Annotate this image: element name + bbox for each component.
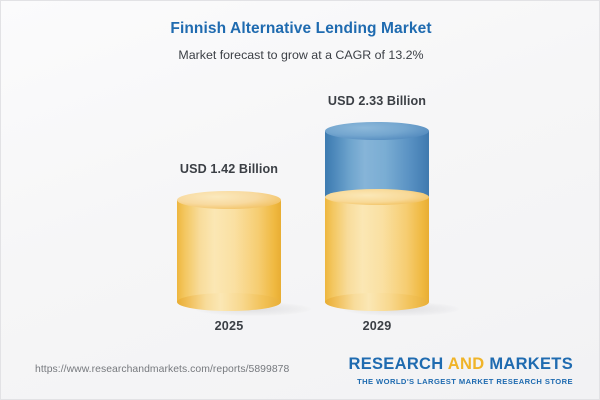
bar-top-cap-2029 — [325, 122, 429, 140]
research-and-markets-logo[interactable]: RESEARCH AND MARKETS THE WORLD'S LARGEST… — [348, 355, 573, 387]
chart-footer: https://www.researchandmarkets.com/repor… — [1, 347, 600, 399]
bar-body-2025 — [177, 200, 281, 302]
logo-word-and: AND — [448, 355, 485, 373]
logo-tagline: THE WORLD'S LARGEST MARKET RESEARCH STOR… — [348, 376, 573, 387]
category-label-2029: 2029 — [297, 319, 457, 333]
chart-plot-area: USD 1.42 Billion 2025 USD 2.33 Billion — [1, 1, 600, 349]
bar-segment-divider-2029 — [325, 189, 429, 205]
bar-bottom-cap-2029 — [325, 293, 429, 311]
chart-page: Finnish Alternative Lending Market Marke… — [0, 0, 600, 400]
report-url-link[interactable]: https://www.researchandmarkets.com/repor… — [35, 364, 289, 375]
bar-top-cap-2025 — [177, 191, 281, 209]
logo-wordmark: RESEARCH AND MARKETS — [348, 355, 573, 374]
bar-body-2029 — [325, 131, 429, 302]
bar-segment-base-2029 — [325, 197, 429, 302]
bar-bottom-cap-2025 — [177, 293, 281, 311]
bar-segment-base-2025 — [177, 200, 281, 302]
logo-word-research: RESEARCH — [348, 355, 443, 373]
bar-cylinder-2025[interactable] — [177, 191, 281, 311]
logo-word-markets: MARKETS — [489, 355, 573, 373]
category-label-2025: 2025 — [149, 319, 309, 333]
bar-segment-growth-2029 — [325, 131, 429, 197]
bar-value-label-2025: USD 1.42 Billion — [149, 162, 309, 176]
bar-cylinder-2029[interactable] — [325, 122, 429, 311]
bar-value-label-2029: USD 2.33 Billion — [297, 94, 457, 108]
